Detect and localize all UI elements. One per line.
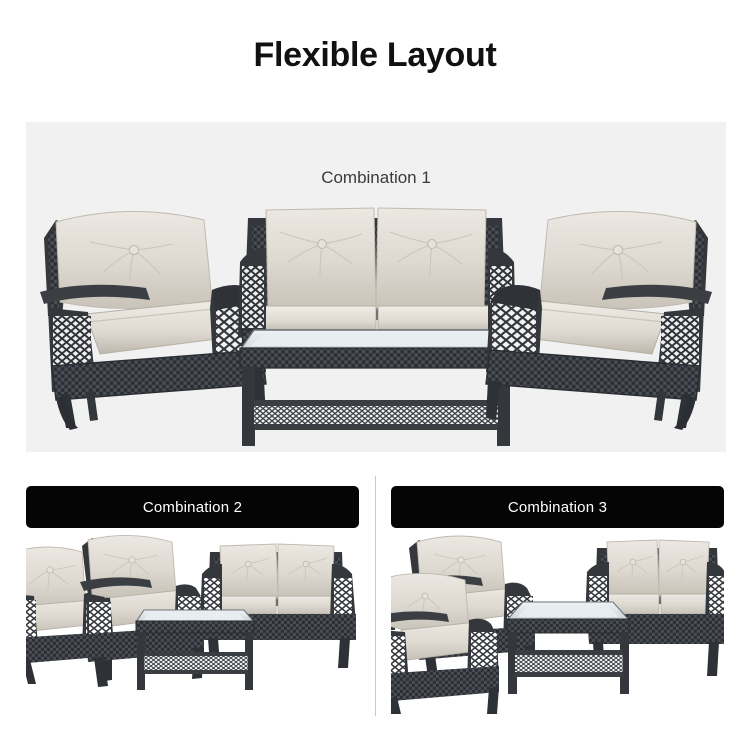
panel-combination-1: Combination 1	[26, 122, 726, 452]
furniture-scene-combination-1	[26, 196, 726, 446]
scene-1-illustration	[26, 196, 726, 446]
scene-3-illustration	[391, 534, 724, 714]
panel-combination-3: Combination 3	[391, 472, 724, 722]
panel-divider	[375, 476, 376, 716]
product-image-canvas: Flexible Layout Combination 1	[0, 0, 750, 750]
furniture-scene-combination-3	[391, 534, 724, 714]
combination-1-label: Combination 1	[26, 168, 726, 188]
armchair-left	[40, 211, 266, 430]
furniture-scene-combination-2	[26, 534, 359, 714]
combination-2-banner: Combination 2	[26, 486, 359, 528]
coffee-table-center	[240, 330, 512, 446]
loveseat-right	[200, 544, 356, 668]
combination-3-banner: Combination 3	[391, 486, 724, 528]
panel-combination-2: Combination 2	[26, 472, 359, 722]
armchair-right	[486, 211, 712, 430]
page-title: Flexible Layout	[0, 36, 750, 75]
combination-2-label: Combination 2	[143, 499, 242, 516]
scene-2-illustration	[26, 534, 359, 714]
combination-3-label: Combination 3	[508, 499, 607, 516]
